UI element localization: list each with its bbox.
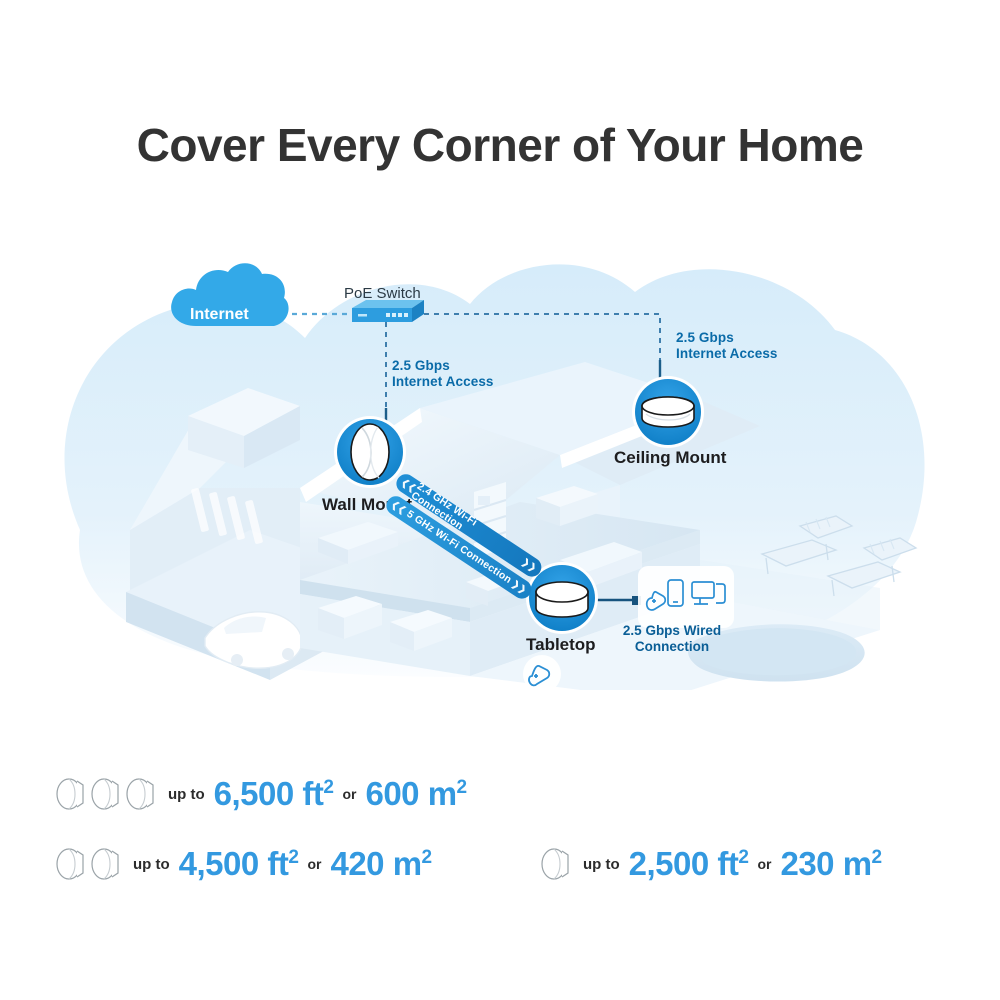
speed-label-left: 2.5 Gbps Internet Access <box>392 358 494 390</box>
ceiling-mount-node <box>632 376 704 448</box>
unit-icons-3 <box>55 776 158 812</box>
coverage-summary: up to 6,500 ft2 or 600 m2 up to 4,500 ft… <box>0 760 1000 940</box>
unit-icons-1 <box>540 846 573 882</box>
deco-unit-icon <box>90 846 123 882</box>
ceiling-mount-label: Ceiling Mount <box>614 448 726 468</box>
wired-line2: Connection <box>612 639 732 655</box>
wired-line1: 2.5 Gbps Wired <box>612 623 732 639</box>
home-coverage-diagram: Internet PoE Switch 2.5 Gbps Internet Ac… <box>0 230 1000 690</box>
poe-switch-label: PoE Switch <box>344 285 421 303</box>
speed-label-right: 2.5 Gbps Internet Access <box>676 330 778 362</box>
speed-left-line1: 2.5 Gbps <box>392 358 494 374</box>
speed-right-line1: 2.5 Gbps <box>676 330 778 346</box>
deco-unit-icon <box>125 776 158 812</box>
coverage-row-3-pack: up to 6,500 ft2 or 600 m2 <box>55 775 467 813</box>
page-title: Cover Every Corner of Your Home <box>0 118 1000 172</box>
coverage-sqft-value: 6,500 ft2 <box>214 775 334 813</box>
deco-unit-icon <box>90 776 123 812</box>
wired-device-card <box>638 566 734 628</box>
sqm-superscript: 2 <box>457 777 467 798</box>
coverage-sqft-value: 2,500 ft2 <box>629 845 749 883</box>
wall-mount-node <box>334 416 406 488</box>
sqft-superscript: 2 <box>738 847 748 868</box>
tabletop-label: Tabletop <box>526 635 596 655</box>
upto-label: up to <box>168 786 205 803</box>
chevron-right-icon: ❯❯ <box>520 556 539 574</box>
coverage-sqm-value: 420 m2 <box>330 845 431 883</box>
deco-unit-icon <box>55 776 88 812</box>
deco-unit-icon <box>55 846 88 882</box>
sqm-superscript: 2 <box>872 847 882 868</box>
or-label: or <box>757 856 771 872</box>
upto-label: up to <box>583 856 620 873</box>
poe-switch-icon <box>352 300 424 322</box>
coverage-row-2-pack: up to 4,500 ft2 or 420 m2 <box>55 845 432 883</box>
speed-right-line2: Internet Access <box>676 346 778 362</box>
coverage-sqm-value: 600 m2 <box>365 775 466 813</box>
or-label: or <box>307 856 321 872</box>
coverage-sqm-value: 230 m2 <box>780 845 881 883</box>
diagram-illustration <box>0 230 1000 690</box>
or-label: or <box>342 786 356 802</box>
internet-label: Internet <box>190 306 249 325</box>
sqft-superscript: 2 <box>288 847 298 868</box>
chevron-left-icon: ❮❮ <box>389 499 408 517</box>
upto-label: up to <box>133 856 170 873</box>
coverage-row-1-pack: up to 2,500 ft2 or 230 m2 <box>540 845 882 883</box>
unit-icons-2 <box>55 846 123 882</box>
wired-connection-label: 2.5 Gbps Wired Connection <box>612 623 732 655</box>
chevron-right-icon: ❯❯ <box>510 578 529 596</box>
sqm-superscript: 2 <box>422 847 432 868</box>
coverage-sqft-value: 4,500 ft2 <box>179 845 299 883</box>
deco-unit-icon <box>540 846 573 882</box>
sqft-superscript: 2 <box>323 777 333 798</box>
speed-left-line2: Internet Access <box>392 374 494 390</box>
